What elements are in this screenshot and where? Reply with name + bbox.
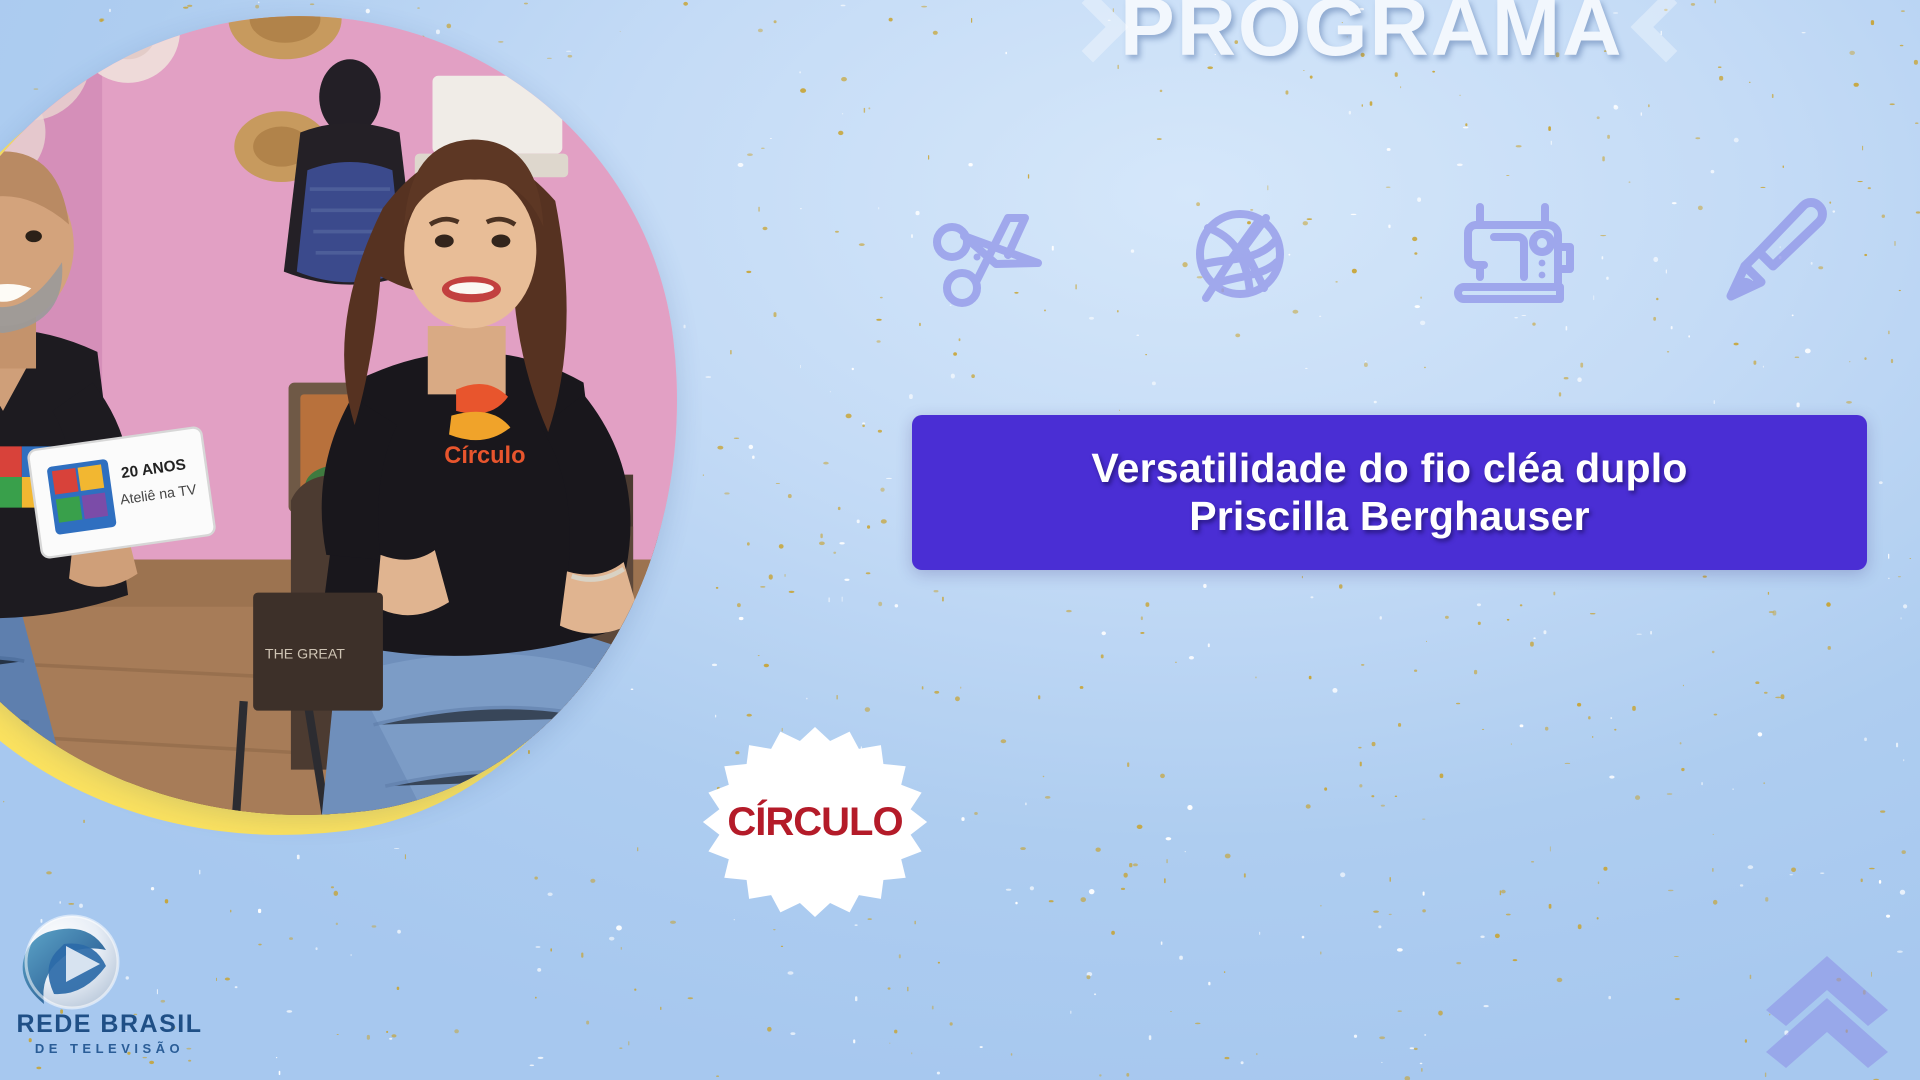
photo-frame: 20 ANOS Ateliê na TV <box>0 0 726 863</box>
program-kicker-label: PROGRAMA <box>1120 0 1623 70</box>
sponsor-badge-label: CÍRCULO <box>727 800 902 845</box>
sponsor-badge[interactable]: CÍRCULO <box>700 725 930 920</box>
chevron-right-icon <box>1060 0 1104 64</box>
double-chevron-up-icon <box>1762 950 1892 1070</box>
program-title-line-1: Versatilidade do fio cléa duplo <box>1091 445 1687 493</box>
svg-text:THE GREAT: THE GREAT <box>265 647 345 663</box>
play-circle-logo <box>8 910 138 1018</box>
paint-brush-icon <box>1715 192 1835 312</box>
program-title-line-2: Priscilla Berghauser <box>1189 493 1590 541</box>
chevron-left-icon <box>1639 0 1683 64</box>
program-kicker: PROGRAMA <box>1060 0 1683 70</box>
sewing-machine-icon <box>1450 195 1580 313</box>
program-photo: 20 ANOS Ateliê na TV <box>0 0 726 863</box>
broadcaster-logo: REDE BRASIL DE TELEVISÃO <box>8 910 223 1075</box>
scissors-icon <box>930 200 1050 310</box>
yarn-ball-icon <box>1180 192 1305 312</box>
poster-canvas: PROGRAMA <box>0 0 1920 1080</box>
broadcaster-wordmark: REDE BRASIL DE TELEVISÃO <box>2 1010 217 1056</box>
broadcaster-name: REDE BRASIL <box>2 1010 217 1039</box>
program-title-panel: Versatilidade do fio cléa duplo Priscill… <box>912 415 1867 570</box>
svg-text:Círculo: Círculo <box>444 442 525 468</box>
broadcaster-subtitle: DE TELEVISÃO <box>2 1041 217 1056</box>
